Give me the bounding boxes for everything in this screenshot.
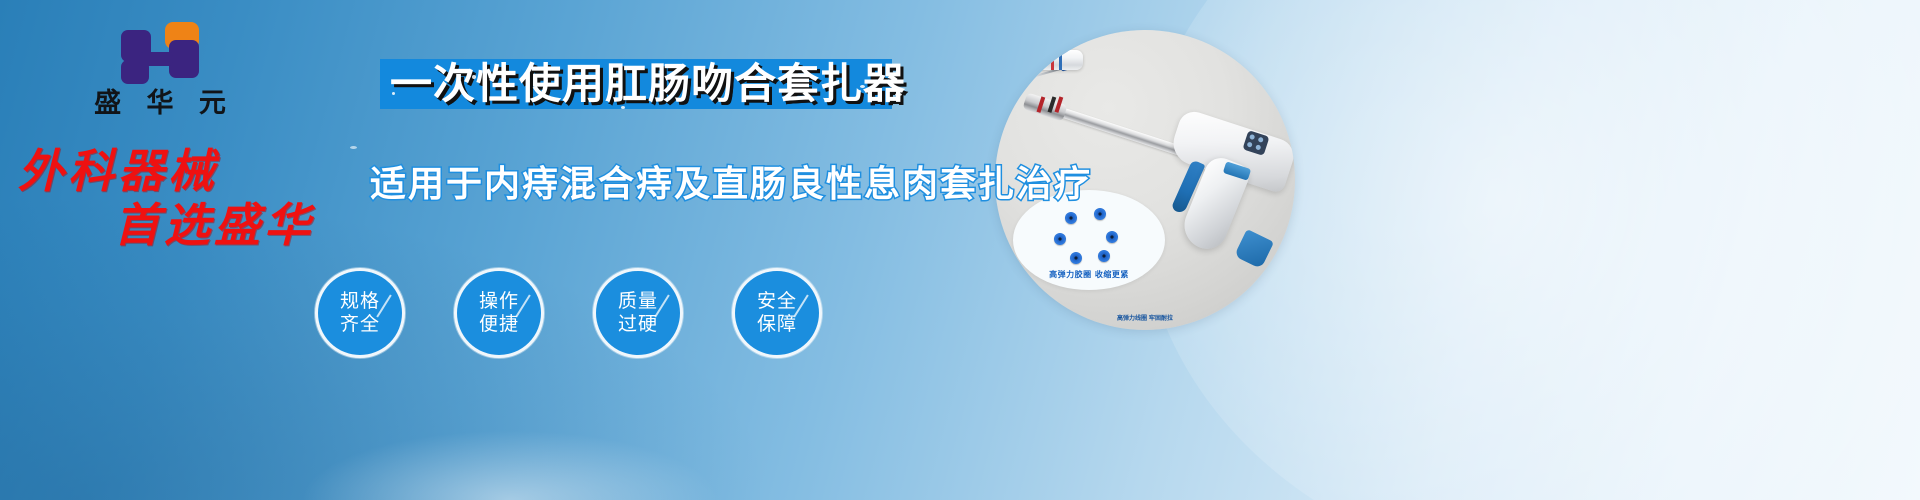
page-title: 一次性使用肛肠吻合套扎器 [382, 54, 894, 114]
feature-badge-list: 规格 齐全 操作 便捷 质量 过硬 安全 保障 [315, 268, 822, 358]
sparkle-icon [860, 85, 865, 88]
feature-badge-line-2: 保障 [757, 313, 797, 336]
feature-badge-quality[interactable]: 质量 过硬 [593, 268, 683, 358]
sparkle-icon [895, 93, 902, 96]
feature-badge-line-1: 操作 [479, 290, 519, 313]
brand-name: 盛 华 元 [60, 90, 260, 117]
brand-logo[interactable]: 盛 华 元 [60, 22, 260, 117]
feature-badge-safety[interactable]: 安全 保障 [732, 268, 822, 358]
slogan-line-1: 外科器械 [18, 144, 218, 198]
feature-badge-line-2: 便捷 [479, 313, 519, 336]
promo-banner: 盛 华 元 外科器械 首选盛华 一次性使用肛肠吻合套扎器 适用于内痔混合痔及直肠… [0, 0, 1920, 500]
feature-badge-line-2: 齐全 [340, 313, 380, 336]
bottom-glow [300, 430, 720, 500]
page-subtitle: 适用于内痔混合痔及直肠良性息肉套扎治疗 [370, 155, 1092, 207]
feature-badge-line-1: 规格 [340, 290, 380, 313]
feature-badge-specifications[interactable]: 规格 齐全 [315, 268, 405, 358]
sparkle-icon [392, 92, 395, 95]
feature-badge-operation[interactable]: 操作 便捷 [454, 268, 544, 358]
sparkle-icon [350, 146, 357, 149]
shenghuayuan-cube-logo-icon [121, 22, 199, 84]
sparkle-icon [621, 106, 625, 109]
feature-badge-line-1: 安全 [757, 290, 797, 313]
feature-badge-line-2: 过硬 [618, 313, 658, 336]
device-base [1234, 229, 1274, 269]
brand-slogan: 外科器械 首选盛华 [18, 148, 314, 248]
feature-badge-line-1: 质量 [618, 290, 658, 313]
callout-rings-caption: 高弹力胶圈 收缩更紧 [1013, 269, 1165, 280]
slogan-line-2: 首选盛华 [114, 202, 314, 248]
sparkle-icon [472, 75, 476, 79]
